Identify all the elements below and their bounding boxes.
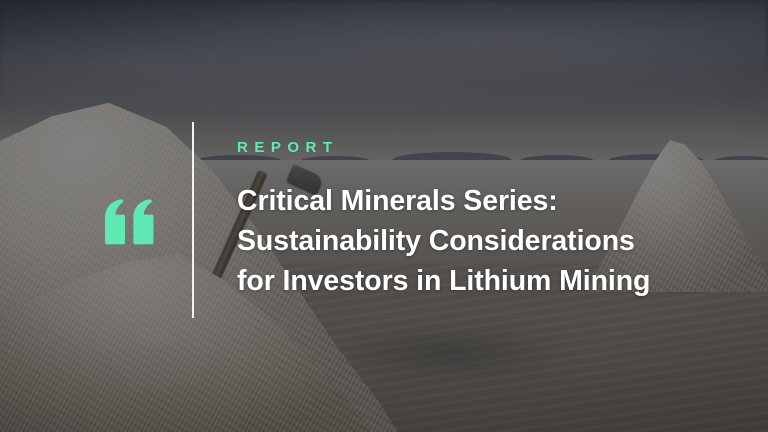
headline-line-3: for Investors in Lithium Mining	[237, 261, 737, 301]
vertical-divider	[192, 122, 194, 318]
headline-block: REPORT Critical Minerals Series: Sustain…	[237, 140, 737, 301]
double-quote-icon	[103, 199, 155, 245]
banner-content: REPORT Critical Minerals Series: Sustain…	[0, 0, 768, 432]
page-title: Critical Minerals Series: Sustainability…	[237, 181, 737, 301]
report-banner: REPORT Critical Minerals Series: Sustain…	[0, 0, 768, 432]
headline-line-2: Sustainability Considerations	[237, 221, 737, 261]
headline-line-1: Critical Minerals Series:	[237, 181, 737, 221]
report-eyebrow-label: REPORT	[237, 140, 737, 155]
